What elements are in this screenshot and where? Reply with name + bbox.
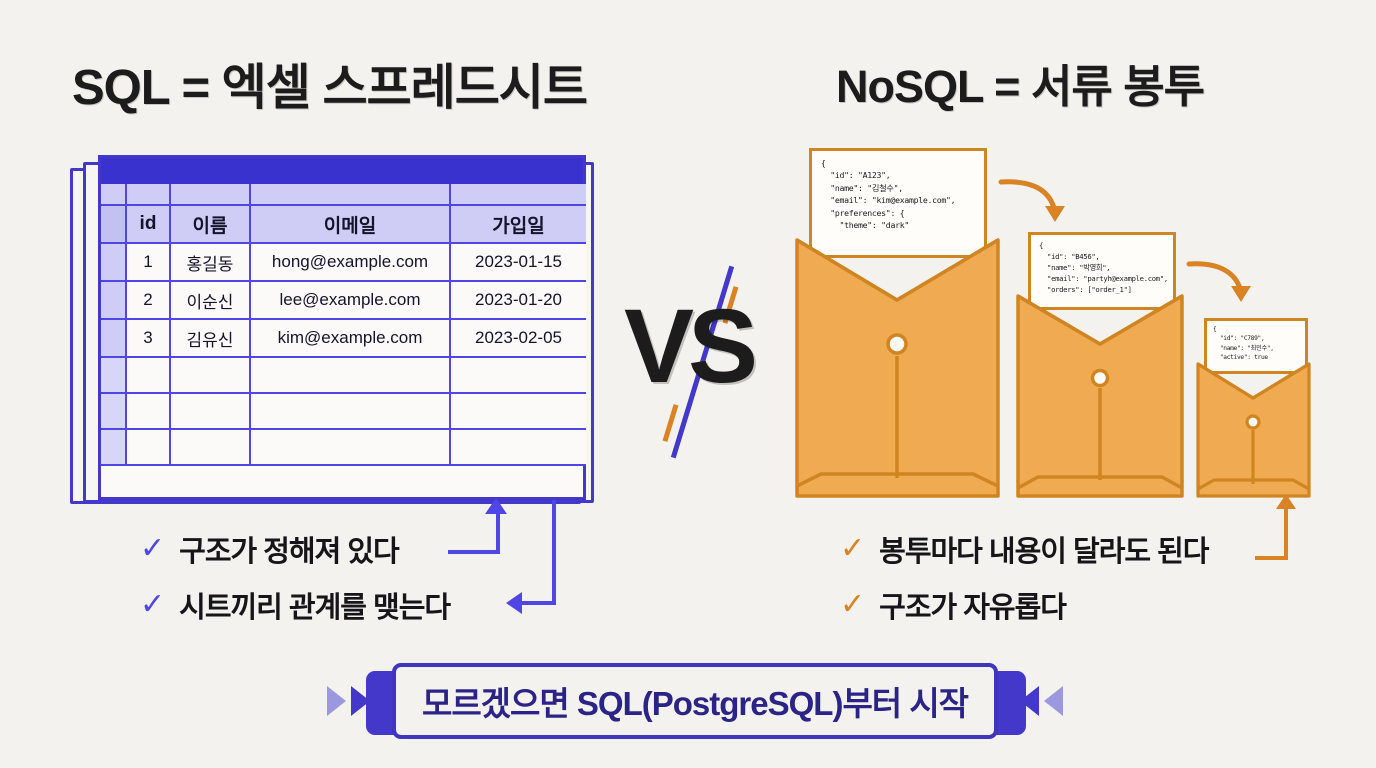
row-number-cell	[101, 394, 127, 430]
cell-empty	[251, 430, 451, 466]
infographic-canvas: SQL = 엑셀 스프레드시트 NoSQL = 서류 봉투 id 이름 이메일 …	[0, 0, 1376, 768]
column-letter-d	[451, 184, 586, 206]
versus-label: VS	[624, 294, 752, 399]
connector-horizontal	[1255, 556, 1288, 560]
connector-branch-to-bullet-2	[522, 601, 556, 605]
check-icon: ✓	[840, 590, 865, 620]
spreadsheet-title-bar	[101, 158, 583, 184]
cell-id: 1	[127, 244, 171, 282]
check-icon: ✓	[140, 590, 165, 620]
cell-empty	[251, 358, 451, 394]
connector-arrow-left-icon	[506, 592, 522, 614]
check-icon: ✓	[840, 534, 865, 564]
connector-trunk-vertical	[552, 500, 556, 605]
triangle-right-solid	[351, 686, 370, 716]
cell-name: 이순신	[171, 282, 251, 320]
cell-empty	[251, 394, 451, 430]
row-number-cell	[101, 244, 127, 282]
triangle-left-pale	[1044, 686, 1063, 716]
list-item: ✓ 구조가 정해져 있다	[140, 528, 450, 570]
cell-id: 3	[127, 320, 171, 358]
connector-vertical	[1284, 508, 1288, 560]
column-letter-b	[171, 184, 251, 206]
table-row-empty[interactable]	[101, 394, 583, 430]
list-item: ✓ 구조가 자유롭다	[840, 584, 1208, 626]
table-row[interactable]: 1 홍길동 hong@example.com 2023-01-15	[101, 244, 583, 282]
envelope-shape-small	[1196, 318, 1311, 498]
list-item: ✓ 봉투마다 내용이 달라도 된다	[840, 528, 1208, 570]
connector-branch-vertical	[496, 512, 500, 554]
column-letter-corner	[101, 184, 127, 206]
cell-empty	[127, 394, 171, 430]
cell-email: hong@example.com	[251, 244, 451, 282]
column-letter-a	[127, 184, 171, 206]
versus-divider: VS	[612, 252, 782, 472]
double-triangle-left-icon	[1020, 686, 1063, 716]
envelope-flow-arrow-1-icon	[995, 168, 1075, 238]
cell-empty	[171, 430, 251, 466]
column-header-name: 이름	[171, 206, 251, 244]
cell-empty	[451, 358, 586, 394]
cta-button[interactable]: 모르겠으면 SQL(PostgreSQL)부터 시작	[392, 663, 998, 739]
spreadsheet-main-sheet[interactable]: id 이름 이메일 가입일 1 홍길동 hong@example.com 202…	[98, 155, 586, 500]
envelope-shape-medium	[1016, 232, 1184, 498]
sql-section-title: SQL = 엑셀 스프레드시트	[72, 48, 587, 119]
row-number-cell	[101, 358, 127, 394]
list-item-label: 구조가 정해져 있다	[179, 528, 399, 570]
envelope-flow-arrow-2-icon	[1185, 252, 1260, 318]
envelope-medium[interactable]: { "id": "B456", "name": "박영희", "email": …	[1016, 232, 1184, 498]
row-number-cell	[101, 320, 127, 358]
cell-empty	[171, 394, 251, 430]
sql-feature-list: ✓ 구조가 정해져 있다 ✓ 시트끼리 관계를 맺는다	[140, 528, 450, 640]
column-header-signup-date: 가입일	[451, 206, 586, 244]
column-header-id: id	[127, 206, 171, 244]
envelope-shape-large	[795, 148, 1000, 498]
triangle-right-pale	[327, 686, 346, 716]
cell-empty	[451, 430, 586, 466]
table-row-empty[interactable]	[101, 430, 583, 466]
list-item: ✓ 시트끼리 관계를 맺는다	[140, 584, 450, 626]
cell-date: 2023-02-05	[451, 320, 586, 358]
cta-label: 모르겠으면 SQL(PostgreSQL)부터 시작	[422, 685, 968, 722]
check-icon: ✓	[140, 534, 165, 564]
cell-empty	[127, 358, 171, 394]
row-number-header	[101, 206, 127, 244]
cell-empty	[171, 358, 251, 394]
connector-branch-to-bullet-1	[448, 550, 500, 554]
cell-email: lee@example.com	[251, 282, 451, 320]
envelope-small[interactable]: { "id": "C789", "name": "최민수", "active":…	[1196, 318, 1311, 498]
nosql-feature-list: ✓ 봉투마다 내용이 달라도 된다 ✓ 구조가 자유롭다	[840, 528, 1208, 640]
cell-date: 2023-01-15	[451, 244, 586, 282]
connector-arrow-up-icon	[485, 498, 507, 514]
cell-email: kim@example.com	[251, 320, 451, 358]
spreadsheet-stack: id 이름 이메일 가입일 1 홍길동 hong@example.com 202…	[70, 155, 590, 500]
table-row-empty[interactable]	[101, 358, 583, 394]
cell-empty	[127, 430, 171, 466]
cta-banner[interactable]: 모르겠으면 SQL(PostgreSQL)부터 시작	[300, 655, 1090, 747]
nosql-section-title: NoSQL = 서류 봉투	[836, 50, 1204, 115]
connector-arrow-up-icon	[1276, 494, 1296, 509]
table-row[interactable]: 2 이순신 lee@example.com 2023-01-20	[101, 282, 583, 320]
triangle-left-solid	[1020, 686, 1039, 716]
cell-name: 홍길동	[171, 244, 251, 282]
cell-name: 김유신	[171, 320, 251, 358]
row-number-cell	[101, 282, 127, 320]
spreadsheet-header-row: id 이름 이메일 가입일	[101, 206, 583, 244]
spreadsheet-column-letter-row	[101, 184, 583, 206]
list-item-label: 구조가 자유롭다	[879, 584, 1066, 626]
column-letter-c	[251, 184, 451, 206]
cell-id: 2	[127, 282, 171, 320]
row-number-cell	[101, 430, 127, 466]
column-header-email: 이메일	[251, 206, 451, 244]
list-item-label: 봉투마다 내용이 달라도 된다	[879, 528, 1208, 570]
cell-date: 2023-01-20	[451, 282, 586, 320]
list-item-label: 시트끼리 관계를 맺는다	[179, 584, 450, 626]
cell-empty	[451, 394, 586, 430]
double-triangle-right-icon	[327, 686, 370, 716]
envelope-large[interactable]: { "id": "A123", "name": "김철수", "email": …	[795, 148, 1000, 498]
table-row[interactable]: 3 김유신 kim@example.com 2023-02-05	[101, 320, 583, 358]
